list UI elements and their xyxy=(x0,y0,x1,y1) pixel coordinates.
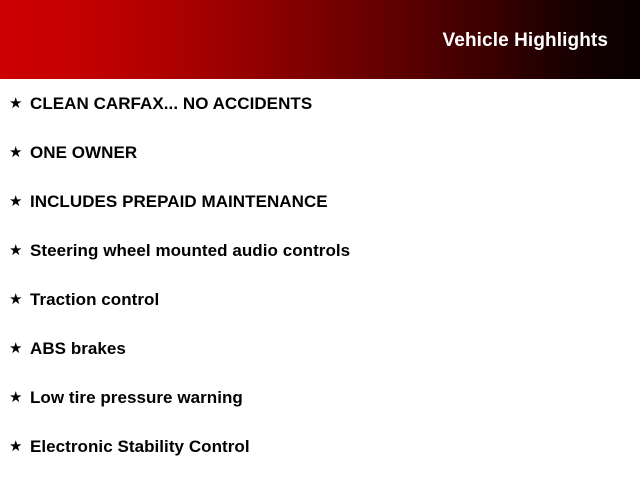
star-icon: ★ xyxy=(9,96,30,111)
highlight-label: Electronic Stability Control xyxy=(30,437,640,457)
list-item: ★ Low tire pressure warning xyxy=(0,373,640,422)
list-item: ★ Traction control xyxy=(0,275,640,324)
list-item: ★ ONE OWNER xyxy=(0,128,640,177)
star-icon: ★ xyxy=(9,145,30,160)
star-icon: ★ xyxy=(9,439,30,454)
highlight-label: ABS brakes xyxy=(30,339,640,359)
highlight-label: ONE OWNER xyxy=(30,143,640,163)
star-icon: ★ xyxy=(9,341,30,356)
highlight-label: Low tire pressure warning xyxy=(30,388,640,408)
star-icon: ★ xyxy=(9,390,30,405)
vehicle-highlights-page: Vehicle Highlights ★ CLEAN CARFAX... NO … xyxy=(0,0,640,480)
highlight-label: CLEAN CARFAX... NO ACCIDENTS xyxy=(30,94,640,114)
list-item: ★ ABS brakes xyxy=(0,324,640,373)
highlight-label: INCLUDES PREPAID MAINTENANCE xyxy=(30,192,640,212)
list-item: ★ Steering wheel mounted audio controls xyxy=(0,226,640,275)
page-title: Vehicle Highlights xyxy=(443,30,608,52)
list-item: ★ Electronic Stability Control xyxy=(0,422,640,471)
highlight-label: Steering wheel mounted audio controls xyxy=(30,241,640,261)
list-item: ★ CLEAN CARFAX... NO ACCIDENTS xyxy=(0,79,640,128)
star-icon: ★ xyxy=(9,292,30,307)
highlight-label: Traction control xyxy=(30,290,640,310)
highlights-list: ★ CLEAN CARFAX... NO ACCIDENTS ★ ONE OWN… xyxy=(0,79,640,471)
list-item: ★ INCLUDES PREPAID MAINTENANCE xyxy=(0,177,640,226)
star-icon: ★ xyxy=(9,243,30,258)
star-icon: ★ xyxy=(9,194,30,209)
header-banner: Vehicle Highlights xyxy=(0,0,640,79)
